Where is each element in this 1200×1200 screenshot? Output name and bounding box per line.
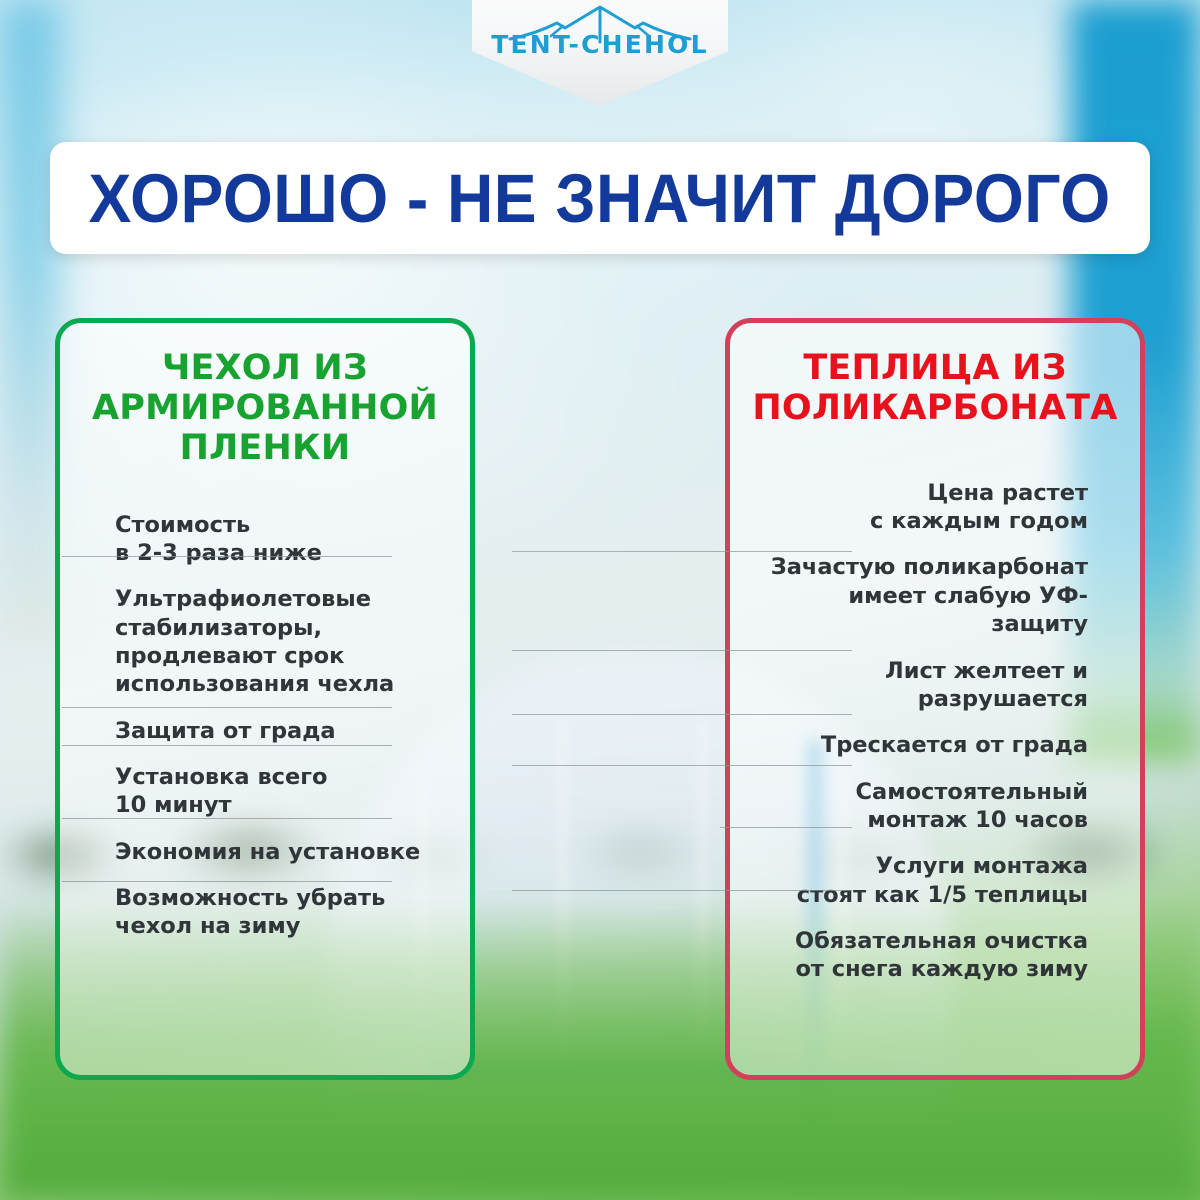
- divider-line: [62, 818, 392, 819]
- divider-line: [512, 890, 852, 891]
- divider-line: [62, 707, 392, 708]
- divider-line: [62, 745, 392, 746]
- list-item: Услуги монтажастоят как 1/5 теплицы: [760, 843, 1088, 918]
- background-left-edge: [0, 0, 60, 640]
- card-title-left: ЧЕХОЛ ИЗ АРМИРОВАННОЙ ПЛЕНКИ: [78, 349, 452, 469]
- list-item: Трескается от града: [760, 722, 1088, 768]
- headline-bar: ХОРОШО - НЕ ЗНАЧИТ ДОРОГО: [50, 142, 1150, 254]
- comparison-card-polycarbonate: ТЕПЛИЦА ИЗ ПОЛИКАРБОНАТА Цена растетс ка…: [725, 318, 1145, 1080]
- list-item: Возможность убрать чехол на зиму: [115, 875, 440, 950]
- list-item: Защита от града: [115, 708, 440, 754]
- divider-line: [62, 881, 392, 882]
- page-title: ХОРОШО - НЕ ЗНАЧИТ ДОРОГО: [89, 164, 1111, 233]
- list-item: Обязательная очистка от снега каждую зим…: [760, 918, 1088, 993]
- poster-canvas: TENT-CHEHOL ХОРОШО - НЕ ЗНАЧИТ ДОРОГО ЧЕ…: [0, 0, 1200, 1200]
- drawback-list-polycarbonate: Цена растетс каждым годомЗачастую полика…: [730, 470, 1140, 993]
- divider-line: [720, 827, 852, 828]
- comparison-card-film-cover: ЧЕХОЛ ИЗ АРМИРОВАННОЙ ПЛЕНКИ Стоимостьв …: [55, 318, 475, 1080]
- list-item: Экономия на установке: [115, 829, 440, 875]
- logo-text: TENT-CHEHOL: [472, 30, 728, 59]
- divider-line: [512, 765, 852, 766]
- list-item: Зачастую поликарбонат имеет слабую УФ-за…: [760, 544, 1088, 647]
- divider-line: [62, 556, 392, 557]
- divider-line: [512, 551, 852, 552]
- benefit-list-film-cover: Стоимостьв 2-3 раза нижеУльтрафиолетовые…: [60, 502, 470, 950]
- list-item: Стоимостьв 2-3 раза ниже: [115, 502, 440, 577]
- divider-line: [512, 714, 852, 715]
- list-item: Самостоятельный монтаж 10 часов: [760, 769, 1088, 844]
- list-item: Лист желтеет и разрушается: [760, 648, 1088, 723]
- card-title-right: ТЕПЛИЦА ИЗ ПОЛИКАРБОНАТА: [748, 349, 1122, 429]
- divider-line: [512, 650, 852, 651]
- list-item: Ультрафиолетовые стабилизаторы, продлева…: [115, 576, 440, 707]
- list-item: Цена растетс каждым годом: [760, 470, 1088, 545]
